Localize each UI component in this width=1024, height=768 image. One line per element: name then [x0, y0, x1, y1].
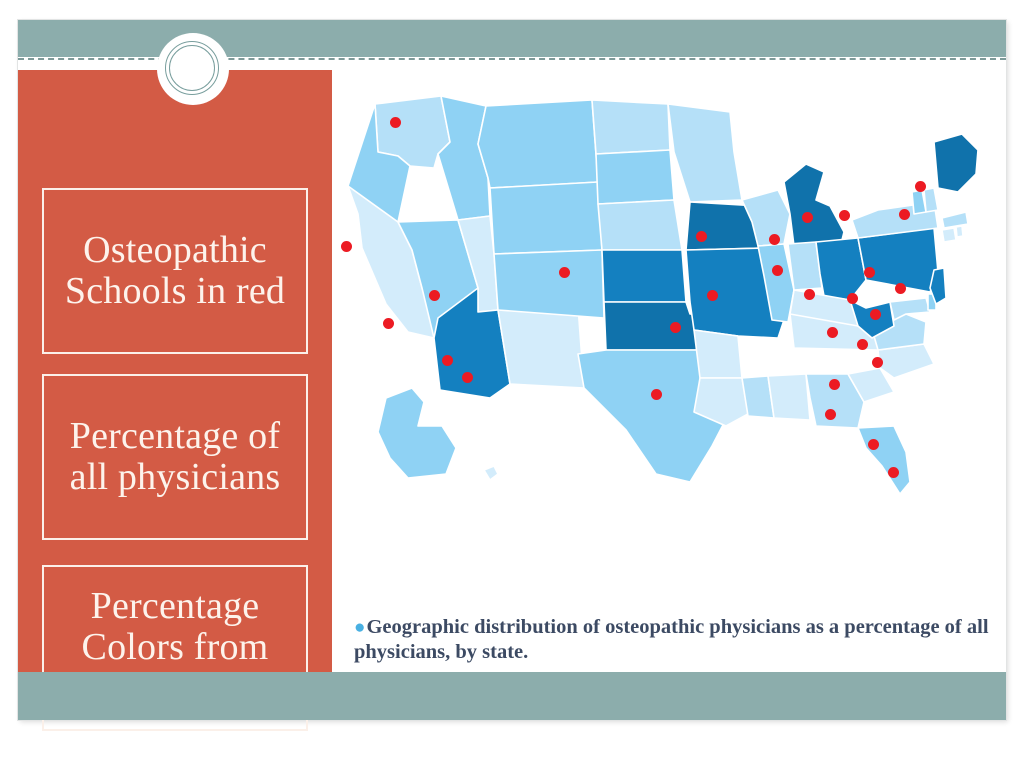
school-marker-5 [462, 372, 473, 383]
medallion-decoration [157, 33, 229, 105]
school-marker-17 [847, 293, 858, 304]
callout-box-percentage: Percentage of all physicians [42, 374, 308, 540]
school-marker-9 [696, 231, 707, 242]
left-red-column: Osteopathic Schools in red Percentage of… [18, 70, 332, 672]
school-marker-8 [670, 322, 681, 333]
school-marker-11 [769, 234, 780, 245]
school-marker-16 [829, 379, 840, 390]
slide-canvas: Osteopathic Schools in red Percentage of… [18, 20, 1006, 720]
callout-box-schools: Osteopathic Schools in red [42, 188, 308, 354]
school-marker-12 [772, 265, 783, 276]
school-marker-layer [338, 82, 1018, 522]
school-marker-28 [825, 409, 836, 420]
school-marker-3 [429, 290, 440, 301]
school-marker-18 [857, 339, 868, 350]
school-marker-21 [872, 357, 883, 368]
school-marker-24 [895, 283, 906, 294]
school-marker-15 [827, 327, 838, 338]
school-marker-22 [839, 210, 850, 221]
school-marker-25 [915, 181, 926, 192]
bullet-icon: ● [354, 617, 365, 638]
school-marker-4 [442, 355, 453, 366]
medallion-inner-ring [169, 45, 215, 91]
school-marker-20 [870, 309, 881, 320]
school-marker-19 [864, 267, 875, 278]
school-marker-1 [341, 241, 352, 252]
school-marker-26 [868, 439, 879, 450]
school-marker-10 [707, 290, 718, 301]
school-marker-14 [804, 289, 815, 300]
school-marker-13 [802, 212, 813, 223]
school-marker-27 [888, 467, 899, 478]
school-marker-6 [559, 267, 570, 278]
map-panel: ●Geographic distribution of osteopathic … [332, 70, 1006, 672]
school-marker-2 [383, 318, 394, 329]
school-marker-0 [390, 117, 401, 128]
map-caption: ●Geographic distribution of osteopathic … [354, 615, 994, 665]
caption-text: Geographic distribution of osteopathic p… [354, 616, 989, 663]
bottom-banner [18, 672, 1006, 720]
school-marker-7 [651, 389, 662, 400]
school-marker-23 [899, 209, 910, 220]
